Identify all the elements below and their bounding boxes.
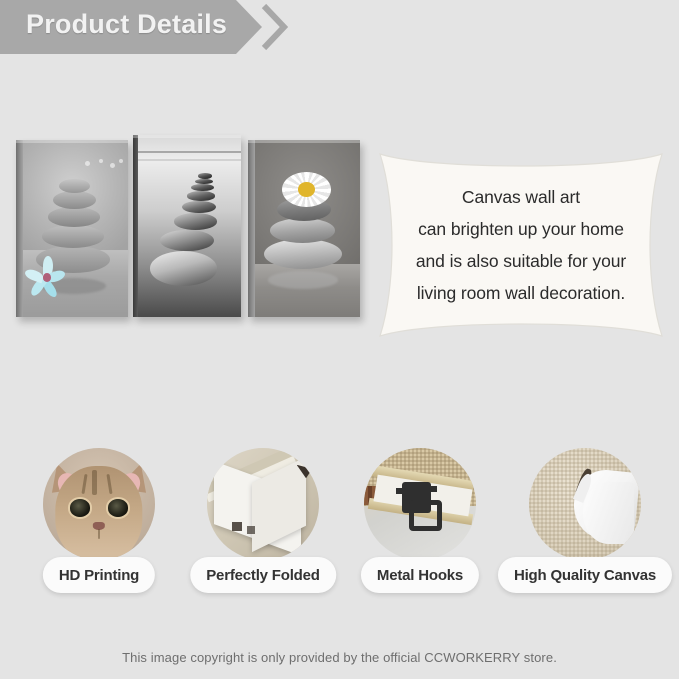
callout-line-2: can brighten up your home	[418, 219, 624, 240]
callout-line-1: Canvas wall art	[462, 187, 580, 208]
metal-hook-hardware-icon	[364, 448, 476, 560]
double-chevron-right-icon	[258, 0, 298, 54]
canvas-panel-left	[16, 140, 128, 317]
feature-label-pill: Perfectly Folded	[190, 557, 336, 593]
canvas-panel-center-artwork	[133, 135, 241, 317]
canvas-material-roll-icon	[529, 448, 641, 560]
canvas-triptych	[16, 131, 360, 321]
feature-label-text: Metal Hooks	[377, 567, 463, 584]
feature-label-pill: HD Printing	[43, 557, 155, 593]
callout-line-3: and is also suitable for your	[416, 251, 626, 272]
canvas-panel-left-artwork	[16, 140, 128, 317]
feature-row: HD Printing Perfectly Folded	[0, 440, 679, 600]
callout-line-4: living room wall decoration.	[417, 283, 625, 304]
feature-label-text: HD Printing	[59, 567, 139, 584]
callout-text-block: Canvas wall art can brighten up your hom…	[370, 144, 672, 346]
cat-photo-print-icon	[43, 448, 155, 560]
feature-label-pill: Metal Hooks	[361, 557, 479, 593]
page-title: Product Details	[26, 9, 227, 40]
canvas-panel-right-artwork	[248, 140, 360, 317]
header-banner: Product Details	[0, 0, 679, 54]
callout-box: Canvas wall art can brighten up your hom…	[370, 144, 672, 346]
folded-canvas-corner-icon	[207, 448, 319, 560]
canvas-panel-right	[248, 140, 360, 317]
canvas-panel-center	[133, 135, 241, 317]
feature-label-text: High Quality Canvas	[514, 567, 656, 584]
feature-label-pill: High Quality Canvas	[498, 557, 672, 593]
feature-label-text: Perfectly Folded	[206, 567, 320, 584]
copyright-note: This image copyright is only provided by…	[0, 650, 679, 665]
